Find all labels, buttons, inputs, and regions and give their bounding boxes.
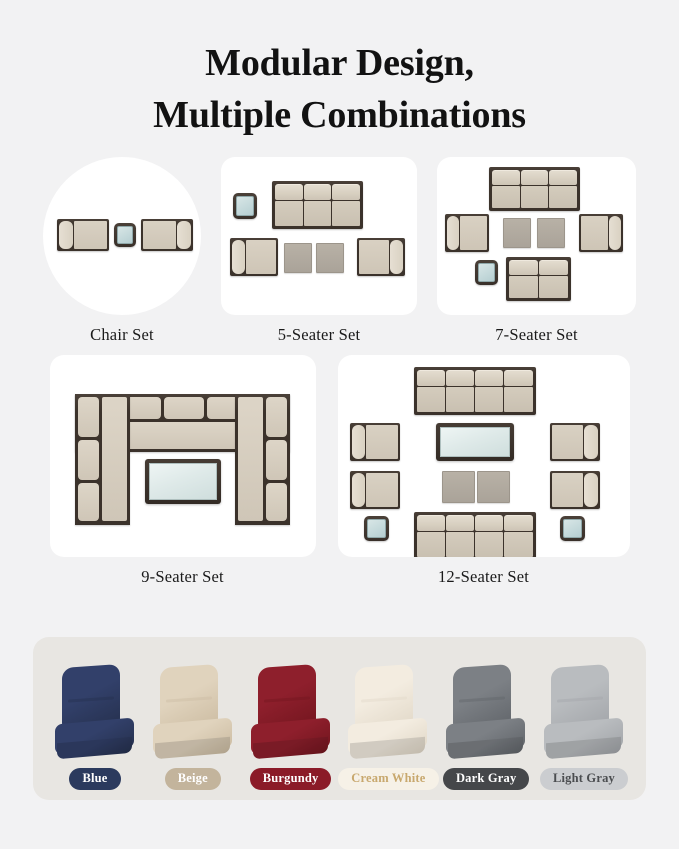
color-swatch-light-gray[interactable]: Light Gray: [536, 666, 632, 790]
set-label-nine-seater: 9-Seater Set: [141, 567, 224, 587]
color-swatch-beige[interactable]: Beige: [145, 666, 241, 790]
three-seat-sofa: [489, 167, 580, 211]
chair-left-top: [350, 423, 400, 461]
color-label-dark-gray[interactable]: Dark Gray: [443, 768, 529, 790]
page-title: Modular Design, Multiple Combinations: [0, 0, 679, 141]
chair-left: [57, 219, 109, 251]
ottoman-2: [477, 471, 510, 503]
color-label-burgundy[interactable]: Burgundy: [250, 768, 332, 790]
cushion-icon: [150, 666, 236, 762]
chair-right: [357, 238, 405, 276]
side-table: [114, 223, 136, 247]
cushion-icon: [52, 666, 138, 762]
cushion-icon: [248, 666, 334, 762]
chair-right-bottom: [550, 471, 600, 509]
color-swatch-dark-gray[interactable]: Dark Gray: [438, 666, 534, 790]
side-table-left: [364, 516, 389, 541]
ottoman-1: [503, 218, 531, 248]
color-label-cream-white[interactable]: Cream White: [338, 768, 438, 790]
glass-coffee-table: [145, 459, 221, 504]
three-seat-sofa: [272, 181, 363, 229]
chair-right: [579, 214, 623, 252]
set-row-top: Chair Set 5-Seater Set: [0, 157, 679, 345]
four-seat-sofa-bottom: [414, 512, 536, 557]
set-label-five-seater: 5-Seater Set: [278, 325, 361, 345]
sectional-left-wing: [75, 394, 130, 525]
set-card-chair-set[interactable]: Chair Set: [43, 157, 201, 345]
side-table: [233, 193, 257, 219]
color-options-panel: Blue Beige Burgundy: [33, 637, 646, 800]
set-card-nine-seater[interactable]: 9-Seater Set: [50, 355, 316, 587]
set-label-chair-set: Chair Set: [90, 325, 154, 345]
set-card-five-seater[interactable]: 5-Seater Set: [221, 157, 417, 345]
set-card-seven-seater[interactable]: 7-Seater Set: [437, 157, 636, 345]
ottoman-2: [316, 243, 344, 273]
set-label-seven-seater: 7-Seater Set: [495, 325, 578, 345]
color-swatch-blue[interactable]: Blue: [47, 666, 143, 790]
two-seat-loveseat: [506, 257, 571, 301]
glass-coffee-table: [436, 423, 514, 461]
four-seat-sofa-top: [414, 367, 536, 415]
sectional-right-wing: [235, 394, 290, 525]
five-seater-illustration: [221, 157, 417, 315]
color-swatch-burgundy[interactable]: Burgundy: [243, 666, 339, 790]
color-label-beige[interactable]: Beige: [165, 768, 221, 790]
chair-set-illustration: [43, 157, 201, 315]
cushion-icon: [345, 666, 431, 762]
ottoman-2: [537, 218, 565, 248]
ottoman-1: [284, 243, 312, 273]
set-row-bottom: 9-Seater Set: [0, 355, 679, 587]
title-line-1: Modular Design,: [0, 38, 679, 90]
side-table-right: [560, 516, 585, 541]
set-label-twelve-seater: 12-Seater Set: [438, 567, 529, 587]
cushion-icon: [541, 666, 627, 762]
color-label-blue[interactable]: Blue: [69, 768, 120, 790]
chair-left-bottom: [350, 471, 400, 509]
set-card-twelve-seater[interactable]: 12-Seater Set: [338, 355, 630, 587]
chair-right: [141, 219, 193, 251]
color-swatch-cream-white[interactable]: Cream White: [340, 666, 436, 790]
title-line-2: Multiple Combinations: [0, 90, 679, 142]
twelve-seater-illustration: [338, 355, 630, 557]
chair-left: [230, 238, 278, 276]
side-table: [475, 260, 498, 285]
chair-right-top: [550, 423, 600, 461]
nine-seater-illustration: [50, 355, 316, 557]
ottoman-1: [442, 471, 475, 503]
seven-seater-illustration: [437, 157, 636, 315]
color-swatch-row: Blue Beige Burgundy: [33, 637, 646, 800]
color-label-light-gray[interactable]: Light Gray: [540, 768, 628, 790]
cushion-icon: [443, 666, 529, 762]
chair-left: [445, 214, 489, 252]
